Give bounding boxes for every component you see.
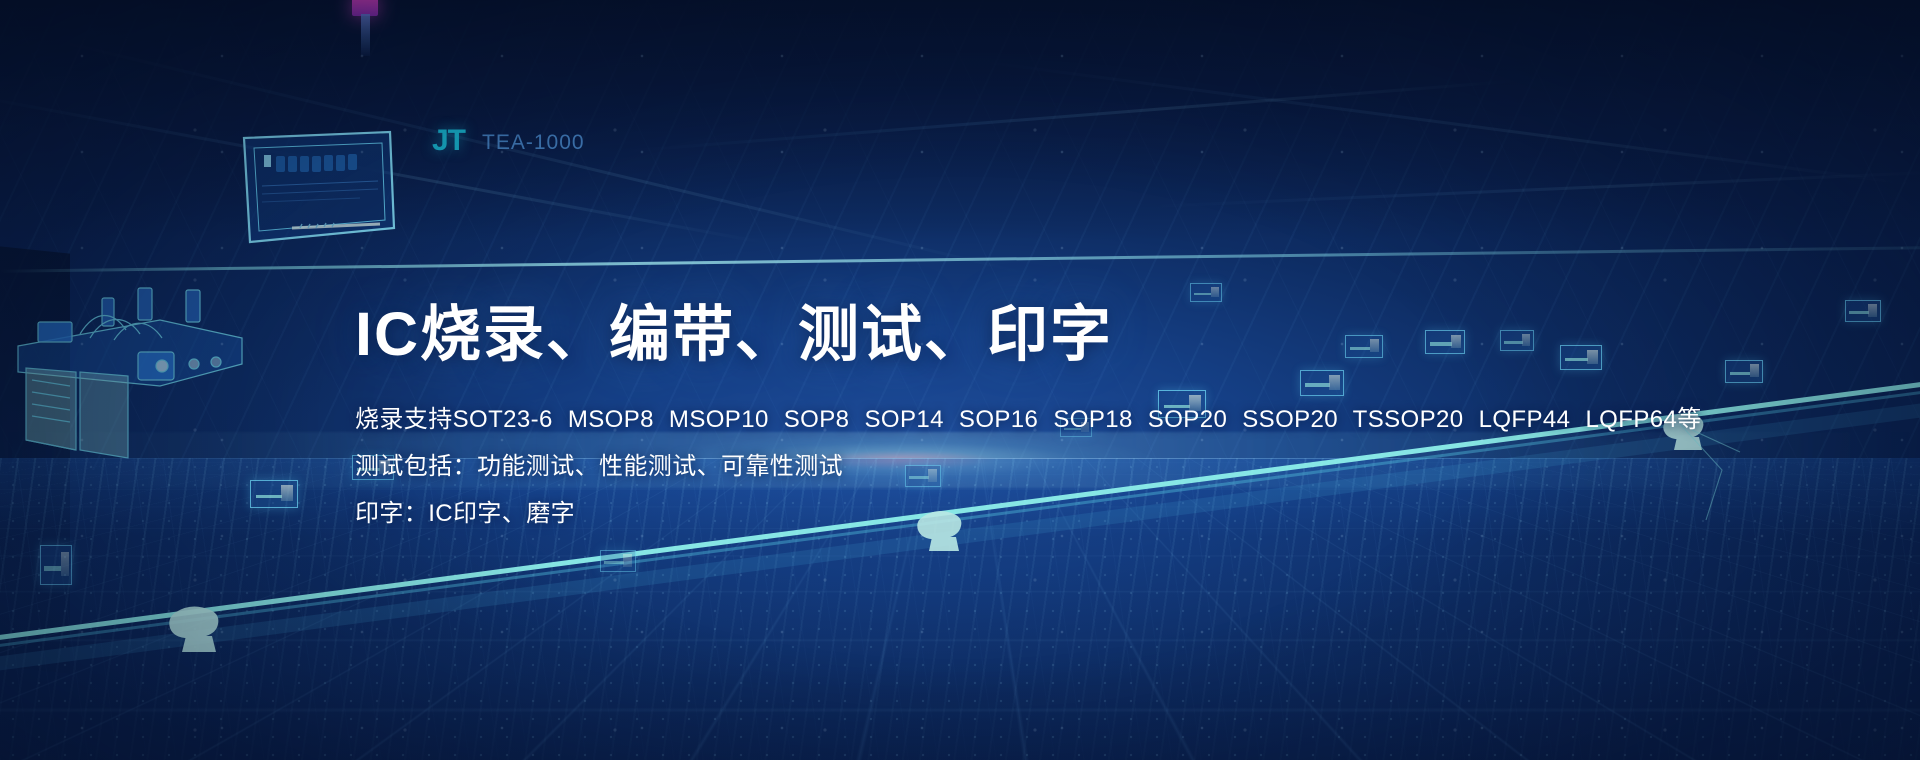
page-title: IC烧录、编带、测试、印字 [355,300,1605,368]
ic-service-banner: JT TEA-1000 [0,0,1920,760]
service-detail-list: 烧录支持SOT23-6 MSOP8 MSOP10 SOP8 SOP14 SOP1… [355,396,1605,537]
service-line-packages: 烧录支持SOT23-6 MSOP8 MSOP10 SOP8 SOP14 SOP1… [355,396,1605,443]
floating-chip-12-icon [1725,360,1763,383]
floating-chip-1-icon [250,480,298,508]
service-line-marking: 印字：IC印字、磨字 [355,490,1605,537]
banner-content: IC烧录、编带、测试、印字 烧录支持SOT23-6 MSOP8 MSOP10 S… [355,300,1605,537]
floating-chip-15-icon [40,545,72,585]
floating-chip-14-icon [1845,300,1881,322]
floating-chip-3-icon [600,550,636,572]
service-line-testing: 测试包括：功能测试、性能测试、可靠性测试 [355,443,1605,490]
